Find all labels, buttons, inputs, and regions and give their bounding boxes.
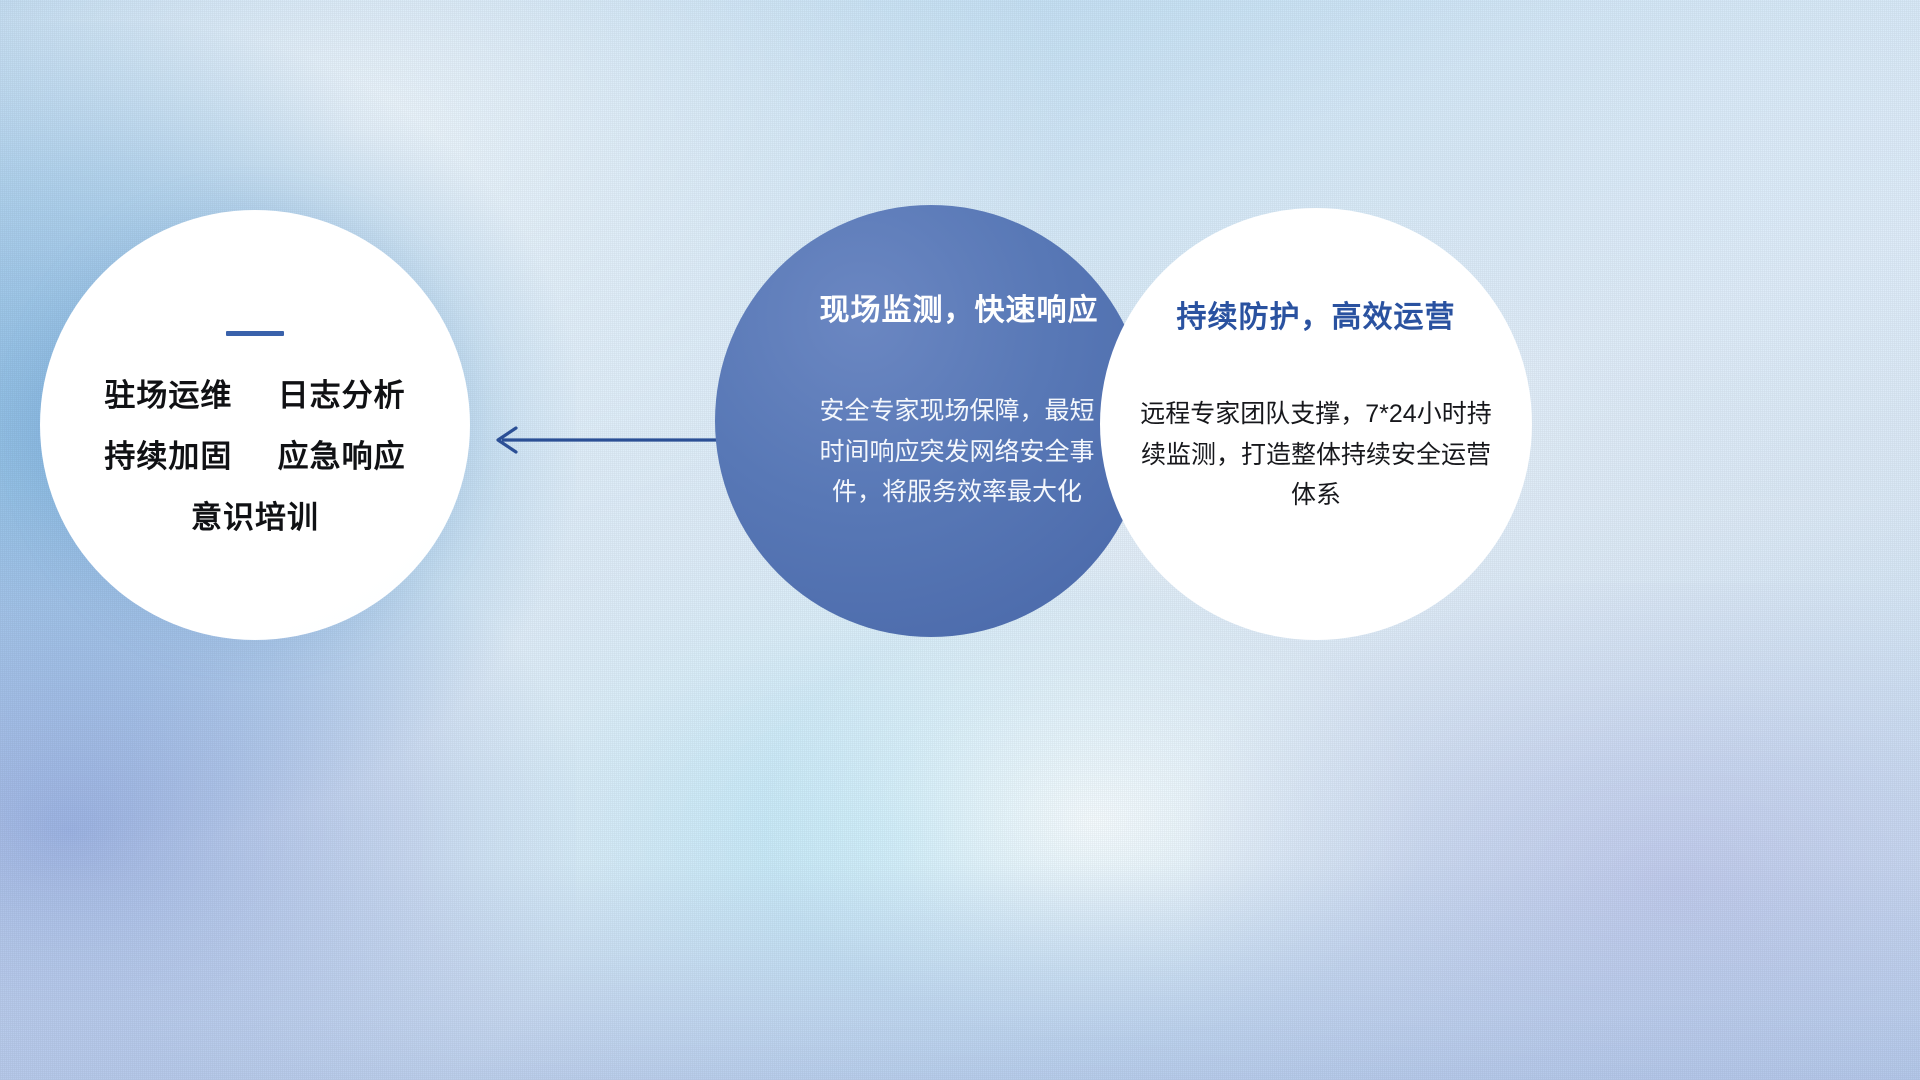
middle-circle-title: 现场监测，快速响应 [820,285,1099,329]
accent-divider-dash [226,331,284,336]
capability-circle-left[interactable]: 驻场运维 日志分析 持续加固 应急响应 意识培训 [40,210,470,640]
diagram-canvas: 驻场运维 日志分析 持续加固 应急响应 意识培训 现场监测，快速响应 安全专家现… [0,0,1920,1080]
right-circle-body: 远程专家团队支撑，7*24小时持续监测，打造整体持续安全运营体系 [1140,394,1492,516]
capability-circle-middle-content: 现场监测，快速响应 安全专家现场保障，最短时间响应突发网络安全事件，将服务效率最… [715,205,1147,637]
capability-tag-chixujiagu: 持续加固 [104,439,232,474]
right-circle-title: 持续防护，高效运营 [1177,292,1456,336]
capability-circle-middle[interactable]: 现场监测，快速响应 安全专家现场保障，最短时间响应突发网络安全事件，将服务效率最… [715,205,1147,637]
capability-tag-yishipeixun: 意识培训 [191,500,319,535]
capability-row-2: 持续加固 应急响应 [104,441,405,472]
capability-circle-left-content: 驻场运维 日志分析 持续加固 应急响应 意识培训 [40,210,470,640]
capability-tag-zhuchangyunwei: 驻场运维 [104,378,232,413]
capability-row-3: 意识培训 [191,502,319,533]
capability-tag-rizhifenxi: 日志分析 [278,378,406,413]
middle-circle-body: 安全专家现场保障，最短时间响应突发网络安全事件，将服务效率最大化 [813,391,1101,513]
capability-tag-yingjixiangying: 应急响应 [278,439,406,474]
capability-circle-right[interactable]: 持续防护，高效运营 远程专家团队支撑，7*24小时持续监测，打造整体持续安全运营… [1100,208,1532,640]
capability-row-1: 驻场运维 日志分析 [104,380,405,411]
capability-circle-right-content: 持续防护，高效运营 远程专家团队支撑，7*24小时持续监测，打造整体持续安全运营… [1100,208,1532,640]
